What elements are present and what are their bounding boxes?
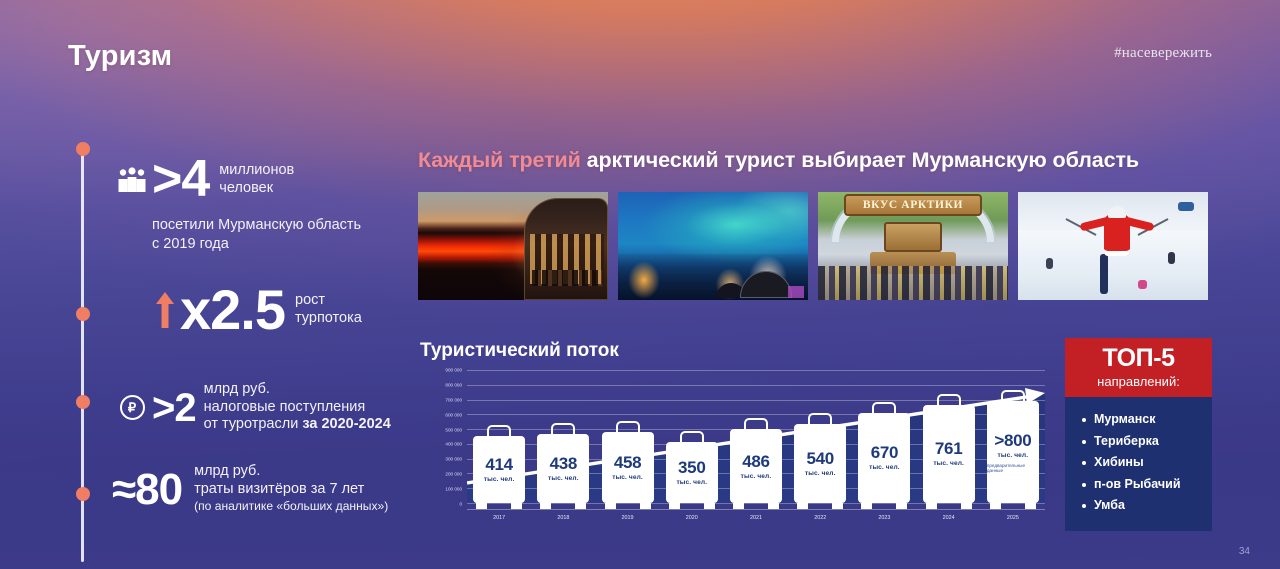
x-axis-tick-label: 2019 <box>595 510 659 525</box>
suitcase-handle-shape <box>872 402 896 413</box>
bar-annotation: предварительные данные <box>987 463 1039 473</box>
x-axis-tick-label: 2025 <box>981 510 1045 525</box>
suitcase-body: 350тыс. чел. <box>666 442 718 504</box>
headline-accent: Каждый третий <box>418 148 581 172</box>
santa-body-shape <box>1104 214 1130 256</box>
timeline-dot-2 <box>76 307 90 321</box>
bar-value-label: 486 <box>742 453 769 470</box>
glamping-lamp-shape <box>788 286 804 298</box>
x-axis-tick-label: 2022 <box>788 510 852 525</box>
section-headline: Каждый третий арктический турист выбирае… <box>418 148 1139 173</box>
ski-lift-cabin-shape <box>1178 202 1194 211</box>
bar-value-label: 458 <box>614 454 641 471</box>
stat-growth-value: x2.5 <box>180 283 285 336</box>
people-icon <box>112 167 152 193</box>
x-axis-tick-label: 2024 <box>917 510 981 525</box>
suitcase-body: 486тыс. чел. <box>730 429 782 503</box>
top5-list-item: Мурманск <box>1081 409 1202 431</box>
top5-destinations-box: ТОП-5 направлений: МурманскТериберкаХиби… <box>1065 338 1212 531</box>
timeline-dot-1 <box>76 142 90 156</box>
festival-plaque-shape <box>884 222 942 252</box>
top5-list: МурманскТериберкаХибинып-ов РыбачийУмба <box>1081 409 1202 517</box>
suitcase-handle-shape <box>808 413 832 424</box>
y-axis-tick-label: 200 000 <box>445 472 462 477</box>
suitcase-icon: 540тыс. чел. <box>794 424 846 503</box>
photo-strip: ВКУС АРКТИКИ <box>418 192 1208 300</box>
stat-visitors-sub-line1: посетили Мурманскую область <box>152 217 361 233</box>
santa-hat-shape <box>1108 206 1126 218</box>
slide-canvas: Туризм #насевережить >4 миллионо <box>0 0 1280 569</box>
y-axis-tick-label: 0 <box>459 502 462 507</box>
suitcase-handle-shape <box>744 418 768 429</box>
suitcase-icon: 438тыс. чел. <box>537 434 589 503</box>
stat-visitors-subtext: посетили Мурманскую область с 2019 года <box>152 216 361 254</box>
suitcase-icon: 350тыс. чел. <box>666 442 718 504</box>
stat-visitors-unit: миллионов человек <box>219 162 294 197</box>
stat-taxes-sub-line3: от туротрасли за 2020-2024 <box>204 416 391 432</box>
suitcase-icon: 670тыс. чел. <box>858 413 910 503</box>
stat-taxes-sub-line3-bold: за 2020-2024 <box>302 416 390 432</box>
chart-bar: 670тыс. чел. <box>852 413 916 503</box>
stat-visitors-unit-line1: миллионов <box>219 162 294 178</box>
photo-vkus-arktiki-gate: ВКУС АРКТИКИ <box>818 192 1008 300</box>
arrow-up-icon <box>150 292 180 328</box>
suitcase-body: 670тыс. чел. <box>858 413 910 503</box>
tourist-flow-chart: 900 000800 000700 000600 000500 000400 0… <box>425 370 1045 525</box>
chart-bar: 438тыс. чел. <box>531 434 595 503</box>
bar-unit-label: тыс. чел. <box>484 476 515 483</box>
bar-value-label: 350 <box>678 459 705 476</box>
top5-body: МурманскТериберкаХибинып-ов РыбачийУмба <box>1065 397 1212 531</box>
suitcase-icon: 486тыс. чел. <box>730 429 782 503</box>
x-axis-tick-label: 2021 <box>724 510 788 525</box>
timeline-dot-3 <box>76 395 90 409</box>
bar-value-label: >800 <box>994 432 1031 449</box>
chart-bar: 761тыс. чел. <box>917 405 981 503</box>
suitcase-icon: 458тыс. чел. <box>602 432 654 503</box>
suitcase-handle-shape <box>1001 390 1025 401</box>
y-axis-tick-label: 300 000 <box>445 457 462 462</box>
suitcase-handle-shape <box>616 421 640 432</box>
bar-value-label: 670 <box>871 444 898 461</box>
hashtag-label: #насевережить <box>1114 45 1212 62</box>
chart-bar: 458тыс. чел. <box>595 432 659 503</box>
suitcase-handle-shape <box>551 423 575 434</box>
stat-taxes-sub-line1: млрд руб. <box>204 381 270 397</box>
photo-santa-skier <box>1018 192 1208 300</box>
photo-aurora-domes <box>618 192 808 300</box>
bar-value-label: 438 <box>550 455 577 472</box>
top5-subtitle: направлений: <box>1077 374 1200 389</box>
x-axis-tick-label: 2020 <box>660 510 724 525</box>
stat-spending-sub-line3: (по аналитике «больших данных») <box>194 499 388 513</box>
bar-unit-label: тыс. чел. <box>805 470 836 477</box>
y-axis-tick-label: 100 000 <box>445 487 462 492</box>
bar-value-label: 414 <box>485 456 512 473</box>
y-axis-tick-label: 500 000 <box>445 427 462 432</box>
y-axis-tick-label: 400 000 <box>445 442 462 447</box>
x-axis-tick-label: 2023 <box>852 510 916 525</box>
bar-unit-label: тыс. чел. <box>676 479 707 486</box>
suitcase-body: 438тыс. чел. <box>537 434 589 503</box>
y-axis-tick-label: 800 000 <box>445 382 462 387</box>
chart-bar: 350тыс. чел. <box>660 442 724 504</box>
chart-bar: >800тыс. чел.предварительные данные <box>981 401 1045 503</box>
photo-sunset-restaurant <box>418 192 608 300</box>
stat-spending-unit: млрд руб. траты визитёров за 7 лет (по а… <box>194 463 388 516</box>
suitcase-icon: 761тыс. чел. <box>923 405 975 503</box>
skier-bystander-1-shape <box>1046 258 1053 269</box>
stat-taxes-value: >2 <box>152 389 196 427</box>
stat-visitors-value: >4 <box>152 155 209 204</box>
bar-unit-label: тыс. чел. <box>548 475 579 482</box>
top5-list-item: Умба <box>1081 495 1202 517</box>
bar-unit-label: тыс. чел. <box>998 452 1029 459</box>
stat-growth-unit-line1: рост <box>295 292 325 308</box>
suitcase-body: 540тыс. чел. <box>794 424 846 503</box>
suitcase-handle-shape <box>680 431 704 442</box>
stat-taxes-sub-line2: налоговые поступления <box>204 399 366 415</box>
restaurant-guests-shape <box>532 270 602 286</box>
bar-unit-label: тыс. чел. <box>741 473 772 480</box>
timeline-dot-4 <box>76 487 90 501</box>
skier-bystander-2-shape <box>1168 252 1175 264</box>
festival-sign-label: ВКУС АРКТИКИ <box>844 194 982 216</box>
suitcase-body: 761тыс. чел. <box>923 405 975 503</box>
chart-x-axis-labels: 201720182019202020212022202320242025 <box>467 509 1045 525</box>
stat-taxes-unit: млрд руб. налоговые поступления от турот… <box>204 381 391 434</box>
chart-plot-area: 900 000800 000700 000600 000500 000400 0… <box>467 370 1045 503</box>
suitcase-body: >800тыс. чел.предварительные данные <box>987 401 1039 503</box>
chart-title: Туристический поток <box>420 340 619 362</box>
stat-growth-unit-line2: турпотока <box>295 310 362 326</box>
y-axis-tick-label: 900 000 <box>445 368 462 373</box>
festival-crowd-shape <box>818 266 1008 300</box>
x-axis-tick-label: 2017 <box>467 510 531 525</box>
page-number: 34 <box>1239 546 1250 557</box>
ruble-icon-glyph: ₽ <box>120 395 145 420</box>
y-axis-tick-label: 700 000 <box>445 397 462 402</box>
headline-rest: арктический турист выбирает Мурманскую о… <box>581 148 1139 172</box>
top5-list-item: Хибины <box>1081 452 1202 474</box>
ruble-icon: ₽ <box>112 395 152 420</box>
chart-bar: 486тыс. чел. <box>724 429 788 503</box>
top5-list-item: Териберка <box>1081 431 1202 453</box>
bar-value-label: 540 <box>806 450 833 467</box>
suitcase-body: 458тыс. чел. <box>602 432 654 503</box>
stat-spending: ≈80 млрд руб. траты визитёров за 7 лет (… <box>112 463 388 516</box>
bar-unit-label: тыс. чел. <box>869 464 900 471</box>
stat-taxes-sub-line3-plain: от туротрасли <box>204 416 303 432</box>
top5-list-item: п-ов Рыбачий <box>1081 474 1202 496</box>
x-axis-tick-label: 2018 <box>531 510 595 525</box>
stat-growth-unit: рост турпотока <box>295 292 362 327</box>
bar-value-label: 761 <box>935 440 962 457</box>
chart-bar: 540тыс. чел. <box>788 424 852 503</box>
stat-taxes: ₽ >2 млрд руб. налоговые поступления от … <box>112 381 391 434</box>
stat-growth: x2.5 рост турпотока <box>150 283 362 336</box>
skier-bystander-3-shape <box>1138 280 1147 289</box>
bar-unit-label: тыс. чел. <box>612 474 643 481</box>
suitcase-handle-shape <box>487 425 511 436</box>
stat-spending-sub-line1: млрд руб. <box>194 463 260 479</box>
bar-unit-label: тыс. чел. <box>933 460 964 467</box>
top5-header: ТОП-5 направлений: <box>1065 338 1212 397</box>
stat-visitors-sub-line2: с 2019 года <box>152 236 229 252</box>
stat-spending-value: ≈80 <box>112 469 182 511</box>
suitcase-icon: >800тыс. чел.предварительные данные <box>987 401 1039 503</box>
stat-visitors: >4 миллионов человек посетили Мурманскую… <box>112 155 361 254</box>
top5-title: ТОП-5 <box>1077 346 1200 371</box>
chart-bar: 414тыс. чел. <box>467 436 531 503</box>
page-title: Туризм <box>68 40 172 73</box>
y-axis-tick-label: 600 000 <box>445 412 462 417</box>
ski-shape <box>1100 254 1108 294</box>
suitcase-body: 414тыс. чел. <box>473 436 525 503</box>
stat-visitors-unit-line2: человек <box>219 180 273 196</box>
suitcase-handle-shape <box>937 394 961 405</box>
suitcase-icon: 414тыс. чел. <box>473 436 525 503</box>
chart-bars: 414тыс. чел.438тыс. чел.458тыс. чел.350т… <box>467 370 1045 503</box>
stat-spending-sub-line2: траты визитёров за 7 лет <box>194 481 364 497</box>
timeline-rail <box>76 142 90 562</box>
